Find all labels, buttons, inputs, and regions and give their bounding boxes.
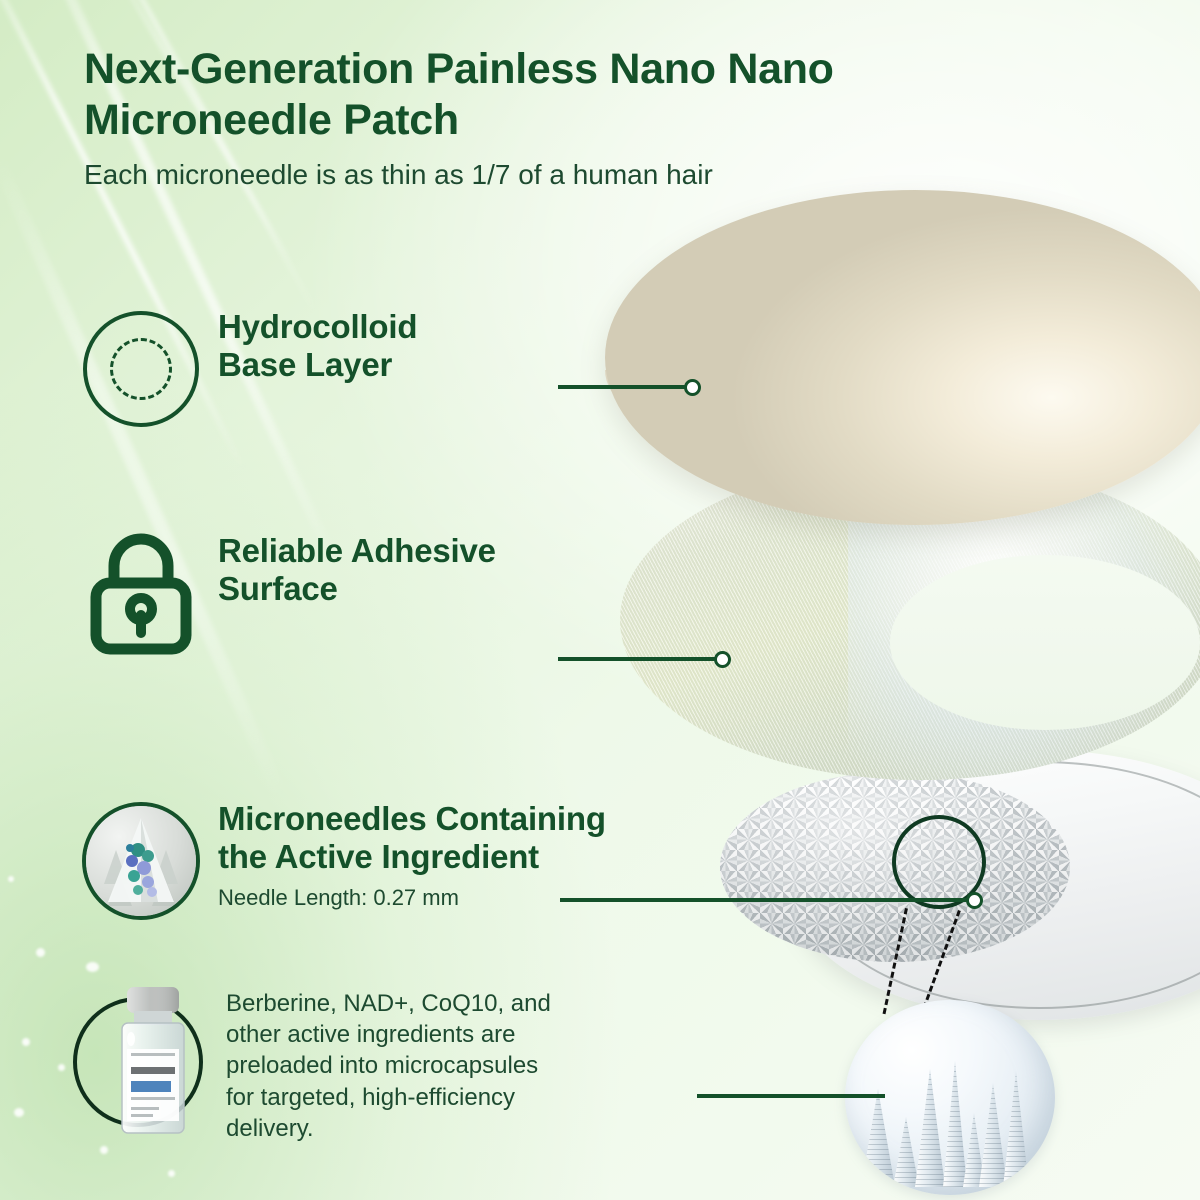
hydrocolloid-base-disc <box>605 190 1200 525</box>
lock-icon <box>82 529 200 657</box>
sparkle-7 <box>168 1170 175 1177</box>
feature-text-adhesive: Reliable Adhesive Surface <box>206 528 496 609</box>
microneedle-disc-rim <box>810 761 1200 1009</box>
streak-4 <box>0 154 288 799</box>
magnifier-dash-left <box>883 908 908 1014</box>
feature-text-hydrocolloid: Hydrocolloid Base Layer <box>206 304 417 385</box>
vial-illustration <box>105 987 201 1137</box>
callout-line-ingredients <box>697 1094 885 1098</box>
adhesive-texture <box>620 460 1200 780</box>
feature-text-ingredients: Berberine, NAD+, CoQ10, and other active… <box>212 982 551 1144</box>
feature-icon-wrap-microneedles <box>76 796 206 926</box>
dashed-circle-icon <box>83 311 199 427</box>
needle-cone-3 <box>915 1069 945 1187</box>
feature-ingredients: Berberine, NAD+, CoQ10, and other active… <box>64 982 724 1144</box>
microneedle-photo-icon <box>82 802 200 920</box>
header: Next-Generation Painless Nano Nano Micro… <box>84 44 844 192</box>
feature-hydrocolloid: Hydrocolloid Base Layer <box>76 304 596 434</box>
feature-heading-adhesive: Reliable Adhesive Surface <box>218 532 496 609</box>
adhesive-sheen <box>848 460 1200 780</box>
microneedle-texture <box>720 772 1070 962</box>
sparkle-8 <box>8 876 14 882</box>
sparkle-1 <box>36 948 45 957</box>
sparkle-6 <box>100 1146 108 1154</box>
needle-length-label: Needle Length: 0.27 mm <box>218 885 606 911</box>
dashed-circle-inner <box>110 338 172 400</box>
adhesive-ring-disc <box>620 460 1200 780</box>
callout-dot-microneedles <box>966 892 983 909</box>
vial-photo-icon <box>73 997 203 1127</box>
ingredients-description: Berberine, NAD+, CoQ10, and other active… <box>226 988 551 1144</box>
adhesive-ring-hole <box>890 555 1200 730</box>
needle-cone-6 <box>979 1083 1007 1187</box>
feature-icon-wrap-hydrocolloid <box>76 304 206 434</box>
needle-cone-4 <box>943 1061 967 1187</box>
microneedle-shading <box>720 772 1070 962</box>
feature-icon-wrap-ingredients <box>64 982 212 1142</box>
feature-heading-hydrocolloid: Hydrocolloid Base Layer <box>218 308 417 385</box>
feature-heading-microneedles: Microneedles Containing the Active Ingre… <box>218 800 606 877</box>
needle-cone-1 <box>861 1089 895 1187</box>
page-subtitle: Each microneedle is as thin as 1/7 of a … <box>84 157 844 192</box>
sparkle-5 <box>14 1108 24 1117</box>
microneedle-array-disc <box>790 750 1200 1020</box>
feature-text-microneedles: Microneedles Containing the Active Ingre… <box>206 796 606 911</box>
needle-cone-5 <box>963 1113 985 1187</box>
feature-microneedles: Microneedles Containing the Active Ingre… <box>76 796 766 926</box>
needle-cone-2 <box>893 1117 919 1187</box>
callout-dot-adhesive <box>714 651 731 668</box>
infographic-canvas: Next-Generation Painless Nano Nano Micro… <box>0 0 1200 1200</box>
page-title: Next-Generation Painless Nano Nano Micro… <box>84 44 844 145</box>
feature-icon-wrap-adhesive <box>76 528 206 658</box>
callout-dot-hydrocolloid <box>684 379 701 396</box>
microneedle-photo-art <box>86 806 196 916</box>
needle-cone-7 <box>1003 1071 1029 1187</box>
hydrocolloid-disc-edge <box>605 370 1200 580</box>
sparkle-3 <box>22 1038 30 1046</box>
magnifier-dash-right <box>922 910 960 1009</box>
microneedle-field <box>720 772 1070 962</box>
feature-adhesive: Reliable Adhesive Surface <box>76 528 616 658</box>
sparkle-2 <box>86 962 99 972</box>
